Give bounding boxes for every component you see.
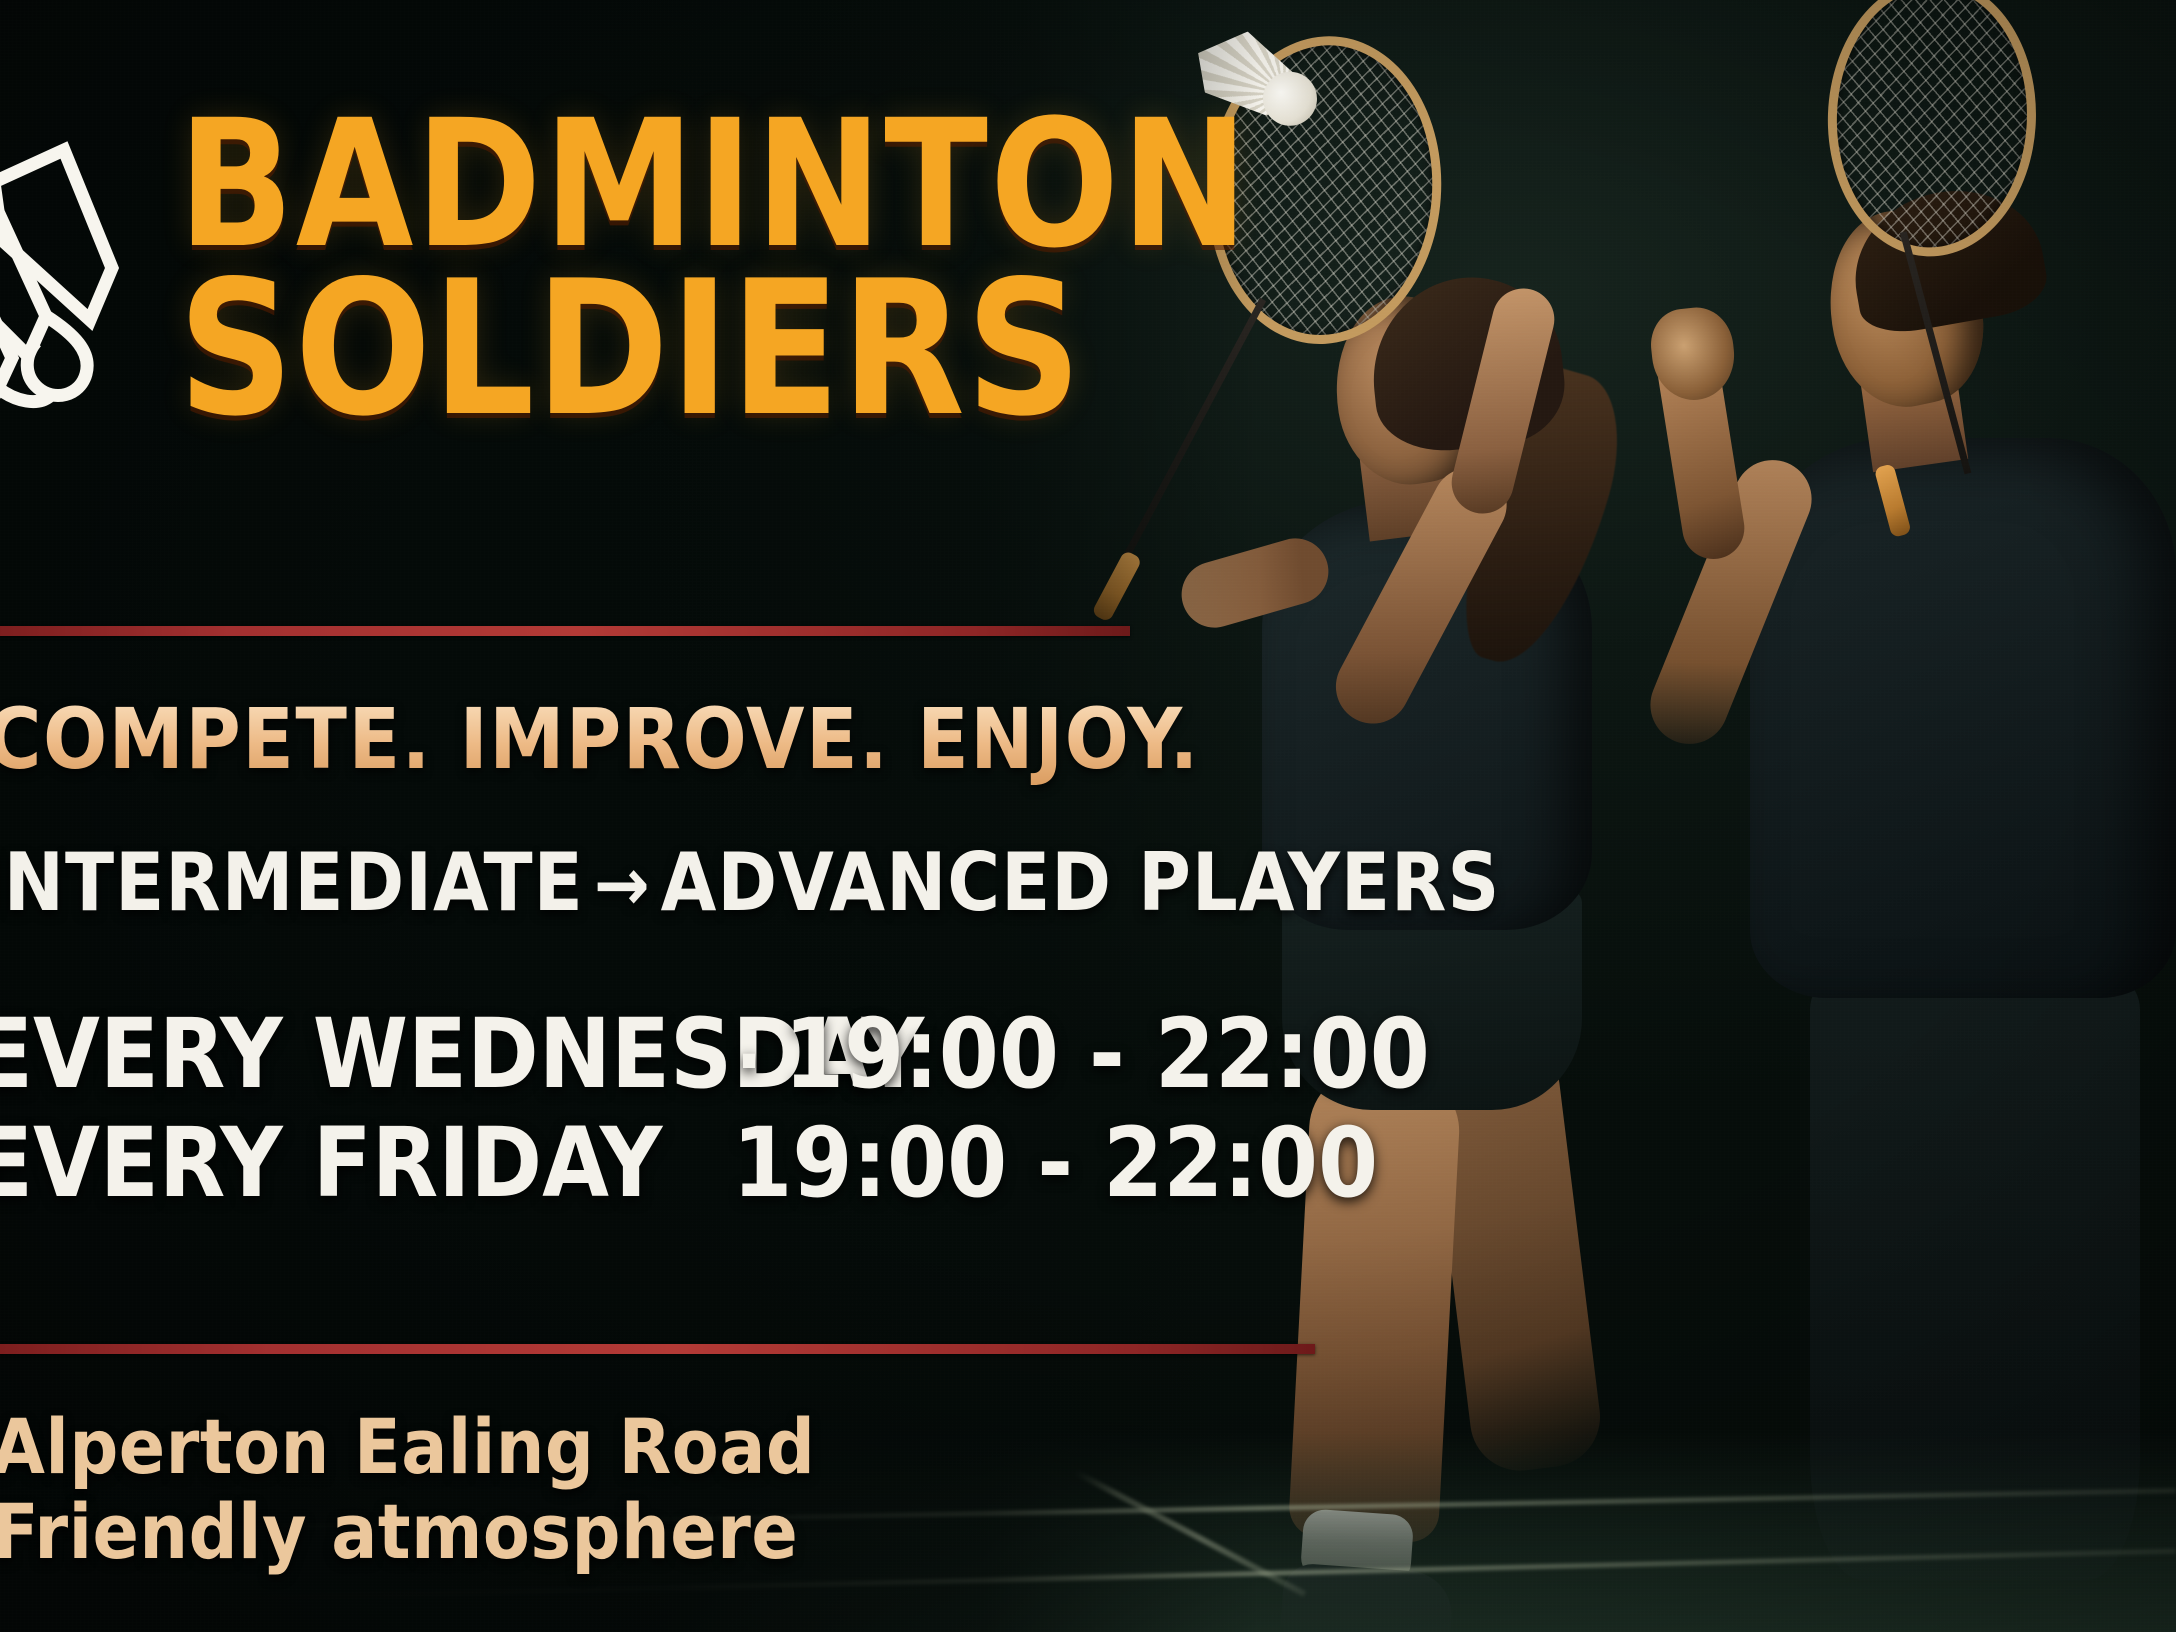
- brand-title: BADMINTON SOLDIERS: [178, 108, 1198, 431]
- brand-line-2: SOLDIERS: [178, 267, 1157, 431]
- schedule-row: EVERY WEDNESDAY·19:00 - 22:00: [0, 1000, 1314, 1109]
- schedule-list: EVERY WEDNESDAY·19:00 - 22:00 EVERY FRID…: [0, 1000, 1314, 1219]
- arrow-right-icon: →: [584, 842, 661, 928]
- schedule-row: EVERY FRIDAY·19:00 - 22:00: [0, 1109, 1314, 1218]
- schedule-separator: ·: [714, 1018, 784, 1105]
- divider-top: [0, 626, 1130, 636]
- poster-canvas: BADMINTON SOLDIERS COMPETE. IMPROVE. ENJ…: [0, 0, 2176, 1632]
- schedule-time: 19:00 - 22:00: [732, 1109, 1378, 1218]
- tagline: COMPETE. IMPROVE. ENJOY.: [0, 690, 1200, 788]
- venue-block: Alperton Ealing Road Friendly atmosphere: [0, 1404, 815, 1574]
- poster-content: BADMINTON SOLDIERS COMPETE. IMPROVE. ENJ…: [0, 0, 2176, 1632]
- level-from: INTERMEDIATE: [0, 836, 584, 929]
- level-to: ADVANCED PLAYERS: [661, 836, 1501, 929]
- divider-bottom: [0, 1344, 1315, 1354]
- schedule-day: EVERY FRIDAY: [0, 1109, 662, 1218]
- schedule-time: 19:00 - 22:00: [784, 1000, 1430, 1109]
- player-level-line: INTERMEDIATE→ADVANCED PLAYERS: [0, 836, 1500, 929]
- venue-location: Alperton Ealing Road: [0, 1404, 815, 1489]
- schedule-day: EVERY WEDNESDAY: [0, 1000, 714, 1109]
- venue-note: Friendly atmosphere: [0, 1489, 815, 1574]
- shuttlecock-outline-icon: [0, 120, 162, 420]
